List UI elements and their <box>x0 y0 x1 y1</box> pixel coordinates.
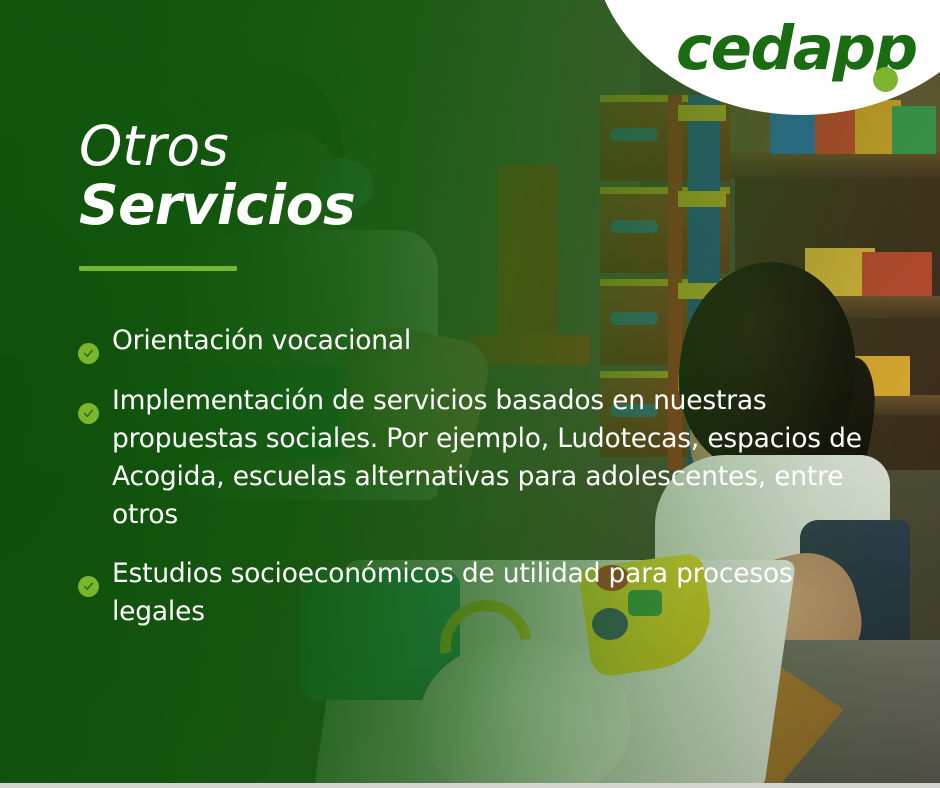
page-title: Otros Servicios <box>79 118 355 235</box>
check-circle-icon <box>78 403 99 424</box>
cedapp-logo-dot <box>873 67 898 92</box>
list-item: Estudios socioeconómicos de utilidad par… <box>78 555 868 631</box>
list-item-label: Implementación de servicios basados en n… <box>112 382 868 534</box>
list-item: Orientación vocacional <box>78 322 868 360</box>
title-line-otros: Otros <box>79 118 355 174</box>
bottom-strip <box>0 783 940 788</box>
list-item: Implementación de servicios basados en n… <box>78 382 868 534</box>
slide-canvas: cedapp Otros Servicios Orientación vocac… <box>0 0 940 788</box>
services-list: Orientación vocacional Implementación de… <box>78 322 868 631</box>
check-circle-icon <box>78 576 99 597</box>
title-underline-rule <box>79 266 237 271</box>
check-circle-icon <box>78 343 99 364</box>
list-item-label: Estudios socioeconómicos de utilidad par… <box>112 555 868 631</box>
title-line-servicios: Servicios <box>79 176 355 235</box>
list-item-label: Orientación vocacional <box>112 322 868 360</box>
